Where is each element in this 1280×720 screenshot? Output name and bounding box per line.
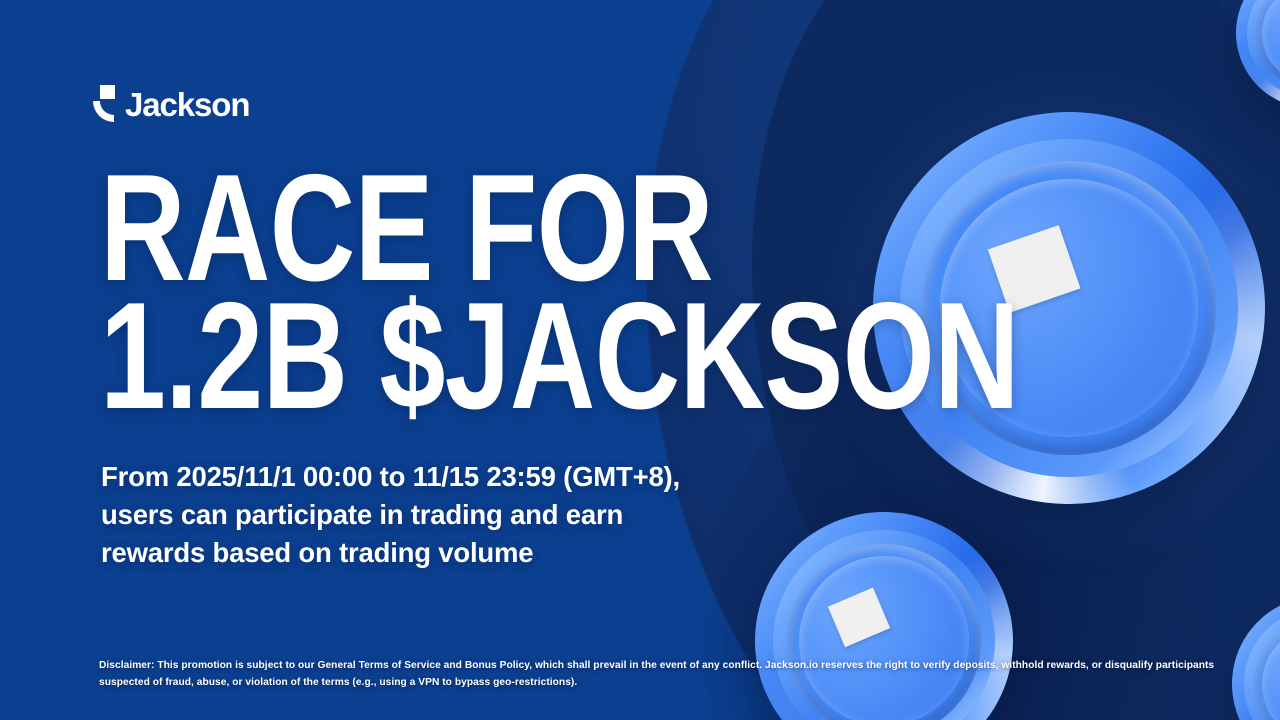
j-mark-square: [100, 85, 115, 99]
coin-ring-inner: [1237, 601, 1280, 720]
brand-name: Jackson: [125, 88, 249, 121]
subheading: From 2025/11/1 00:00 to 11/15 23:59 (GMT…: [101, 458, 891, 572]
jackson-j-mark-icon: [93, 84, 120, 122]
jackson-coin-icon: [1229, 0, 1280, 115]
headline-line-2: 1.2B $JACKSON: [100, 292, 693, 420]
coin-rim: [1229, 0, 1280, 115]
jackson-coin-icon: [1209, 573, 1280, 720]
subheading-line-3: rewards based on trading volume: [101, 534, 891, 572]
coin-rim: [1209, 573, 1280, 720]
coin-face: [1247, 611, 1280, 720]
promo-banner: Jackson RACE FOR 1.2B $JACKSON From 2025…: [0, 0, 1280, 720]
j-mark-arc: [93, 101, 114, 122]
coin-face: [1257, 0, 1280, 87]
subheading-line-1: From 2025/11/1 00:00 to 11/15 23:59 (GMT…: [101, 458, 891, 496]
coin-rim-highlight: [1229, 0, 1280, 115]
j-mark-square: [828, 587, 891, 647]
coin-ring-outer: [1240, 0, 1280, 104]
coin-rim-highlight: [1209, 573, 1280, 720]
headline: RACE FOR 1.2B $JACKSON: [100, 164, 860, 420]
subheading-line-2: users can participate in trading and ear…: [101, 496, 891, 534]
brand-logo: Jackson: [93, 82, 249, 122]
coin-ring-outer: [1225, 589, 1280, 720]
disclaimer-text: Disclaimer: This promotion is subject to…: [99, 657, 1219, 691]
coin-ring-inner: [1249, 0, 1280, 95]
